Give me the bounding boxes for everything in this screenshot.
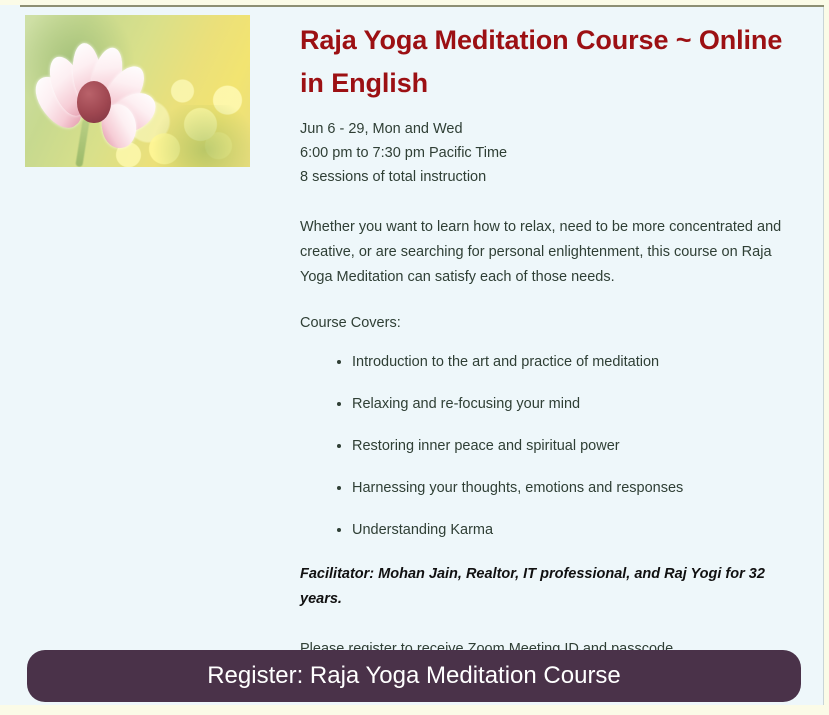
lotus-stem: [75, 119, 89, 167]
list-item: Relaxing and re-focusing your mind: [352, 394, 805, 414]
register-button[interactable]: Register: Raja Yoga Meditation Course: [27, 650, 801, 702]
schedule-block: Jun 6 - 29, Mon and Wed 6:00 pm to 7:30 …: [300, 117, 805, 189]
lotus-center: [77, 81, 111, 123]
schedule-sessions: 8 sessions of total instruction: [300, 165, 805, 189]
list-item: Harnessing your thoughts, emotions and r…: [352, 478, 805, 498]
lotus-flower-icon: [39, 37, 157, 149]
page-title: Raja Yoga Meditation Course ~ Online in …: [300, 19, 805, 105]
photo-bokeh-blob: [145, 105, 250, 167]
course-hero-image: [25, 15, 250, 167]
list-item: Understanding Karma: [352, 520, 805, 540]
course-description: Whether you want to learn how to relax, …: [300, 215, 805, 290]
schedule-time: 6:00 pm to 7:30 pm Pacific Time: [300, 141, 805, 165]
course-covers-label: Course Covers:: [300, 312, 805, 334]
content-panel: Raja Yoga Meditation Course ~ Online in …: [0, 5, 824, 705]
lotus-photo: [25, 15, 250, 167]
facilitator-info: Facilitator: Mohan Jain, Realtor, IT pro…: [300, 562, 780, 612]
list-item: Restoring inner peace and spiritual powe…: [352, 436, 805, 456]
top-divider: [20, 5, 824, 7]
schedule-dates: Jun 6 - 29, Mon and Wed: [300, 117, 805, 141]
course-details: Raja Yoga Meditation Course ~ Online in …: [300, 19, 805, 660]
page-root: Raja Yoga Meditation Course ~ Online in …: [0, 0, 829, 715]
course-covers-list: Introduction to the art and practice of …: [300, 352, 805, 540]
list-item: Introduction to the art and practice of …: [352, 352, 805, 372]
